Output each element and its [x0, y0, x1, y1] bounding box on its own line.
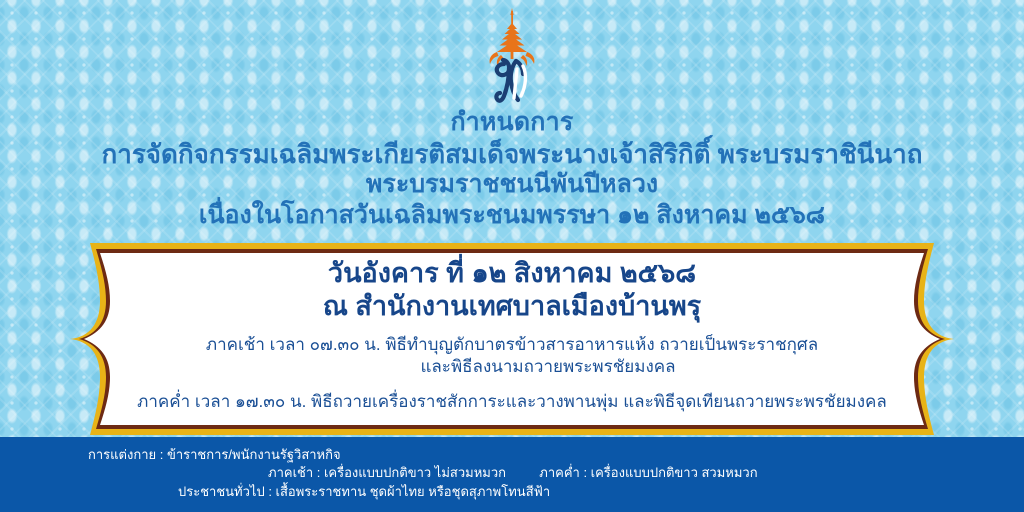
- event-venue: ณ สำนักงานเทศบาลเมืองบ้านพรุ: [62, 290, 962, 323]
- header-line-occasion: เนื่องในโอกาสวันเฉลิมพระชนมพรรษา ๑๒ สิงห…: [0, 201, 1024, 231]
- cipher-glyph: [496, 60, 523, 101]
- schedule-morning-line-1: ภาคเช้า เวลา ๐๗.๓๐ น. พิธีทำบุญตักบาตรข้…: [62, 334, 962, 357]
- schedule-morning-line-2: และพิธีลงนามถวายพระพรชัยมงคล: [62, 356, 962, 379]
- panel-content: วันอังคาร ที่ ๑๒ สิงหาคม ๒๕๖๘ ณ สำนักงาน…: [62, 243, 962, 435]
- ornate-detail-panel: วันอังคาร ที่ ๑๒ สิงหาคม ๒๕๖๘ ณ สำนักงาน…: [62, 243, 962, 435]
- header-heading-block: กำหนดการ การจัดกิจกรรมเฉลิมพระเกียรติสมเ…: [0, 108, 1024, 230]
- event-date: วันอังคาร ที่ ๑๒ สิงหาคม ๒๕๖๘: [62, 257, 962, 290]
- cipher-highlight: [514, 66, 525, 98]
- dress-code-public: ประชาชนทั่วไป : เสื้อพระราชทาน ชุดผ้าไทย…: [0, 483, 1024, 501]
- header-line-subtitle: พระบรมราชชนนีพันปีหลวง: [0, 170, 1024, 200]
- header-line-program: กำหนดการ: [0, 108, 1024, 138]
- ceremony-announcement-banner: กำหนดการ การจัดกิจกรรมเฉลิมพระเกียรติสมเ…: [0, 0, 1024, 512]
- dress-code-evening: ภาคค่ำ : เครื่องแบบปกติขาว สวมหมวก: [539, 465, 757, 480]
- schedule-evening-line-1: ภาคค่ำ เวลา ๑๗.๓๐ น. พิธีถวายเครื่องราชส…: [62, 388, 962, 415]
- dress-code-morning: ภาคเช้า : เครื่องแบบปกติขาว ไม่สวมหมวก: [268, 465, 506, 480]
- schedule-morning: ภาคเช้า เวลา ๐๗.๓๐ น. พิธีทำบุญตักบาตรข้…: [62, 334, 962, 379]
- dress-code-sessions-row: ภาคเช้า : เครื่องแบบปกติขาว ไม่สวมหมวก ภ…: [0, 464, 1024, 482]
- nine-tiered-royal-umbrella-icon: [490, 8, 535, 66]
- header-line-title: การจัดกิจกรรมเฉลิมพระเกียรติสมเด็จพระนาง…: [0, 139, 1024, 170]
- royal-cipher-sor-kor-icon: [460, 6, 564, 110]
- dress-code-officials-label: การแต่งกาย : ข้าราชการ/พนักงานรัฐวิสาหกิ…: [0, 437, 1024, 464]
- royal-cipher-emblem: [0, 6, 1024, 110]
- dress-code-footer: การแต่งกาย : ข้าราชการ/พนักงานรัฐวิสาหกิ…: [0, 437, 1024, 512]
